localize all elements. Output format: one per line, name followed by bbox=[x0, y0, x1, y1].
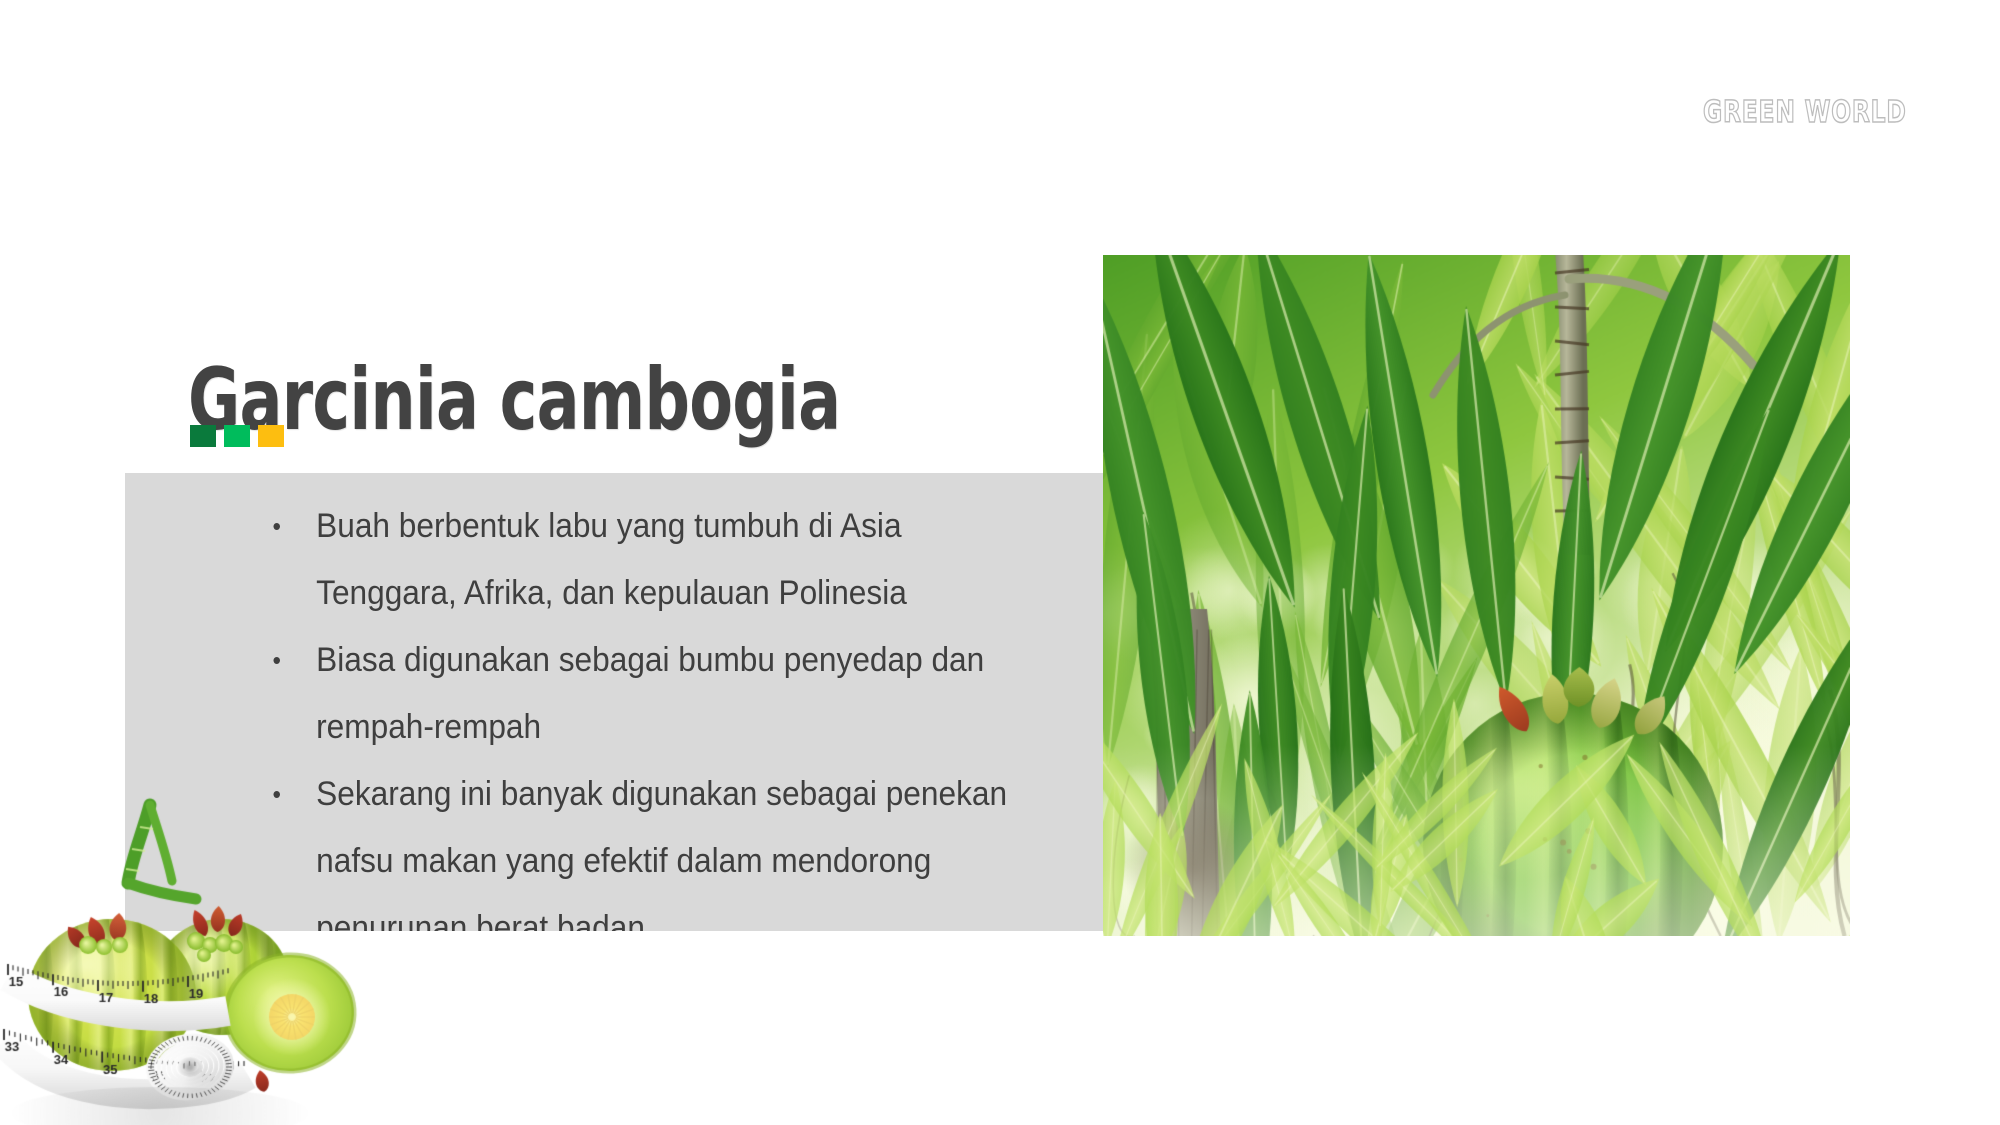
accent-square-row bbox=[190, 425, 284, 447]
accent-square-green bbox=[224, 425, 250, 447]
brand-logo: GREEN WORLD bbox=[1703, 95, 1907, 130]
garcinia-fruit-with-measuring-tape bbox=[0, 795, 380, 1125]
bullet-list: Buah berbentuk labu yang tumbuh di Asia … bbox=[265, 493, 1095, 931]
slide-canvas: GREEN WORLD Garcinia cambogia Buah berbe… bbox=[0, 0, 2000, 1125]
garcinia-fruit-on-tree-photo bbox=[1103, 255, 1850, 936]
accent-square-dark-green bbox=[190, 425, 216, 447]
fruit-cutout-image bbox=[0, 795, 380, 1125]
list-item: Buah berbentuk labu yang tumbuh di Asia … bbox=[265, 493, 1037, 627]
photo-image bbox=[1103, 255, 1850, 936]
list-item: Sekarang ini banyak digunakan sebagai pe… bbox=[265, 761, 1037, 931]
page-title: Garcinia cambogia bbox=[188, 350, 840, 450]
list-item: Biasa digunakan sebagai bumbu penyedap d… bbox=[265, 627, 1037, 761]
accent-square-amber bbox=[258, 425, 284, 447]
